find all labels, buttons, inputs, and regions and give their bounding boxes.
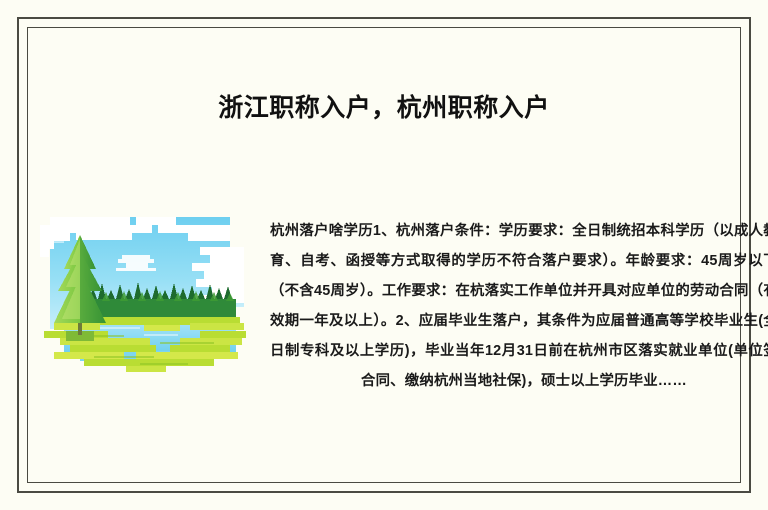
landscape-illustration [40, 195, 270, 375]
page-title: 浙江职称入户，杭州职称入户 [0, 91, 768, 125]
landscape-illustration-svg [40, 195, 270, 375]
article-content: 杭州落户啥学历1、杭州落户条件：学历要求：全日制统招本科学历（以成人教育、自考、… [40, 195, 740, 445]
article-body: 杭州落户啥学历1、杭州落户条件：学历要求：全日制统招本科学历（以成人教育、自考、… [270, 216, 768, 396]
article-page: 浙江职称入户，杭州职称入户 [0, 0, 768, 510]
sun-glow [116, 255, 156, 271]
grass-banks [44, 317, 246, 372]
